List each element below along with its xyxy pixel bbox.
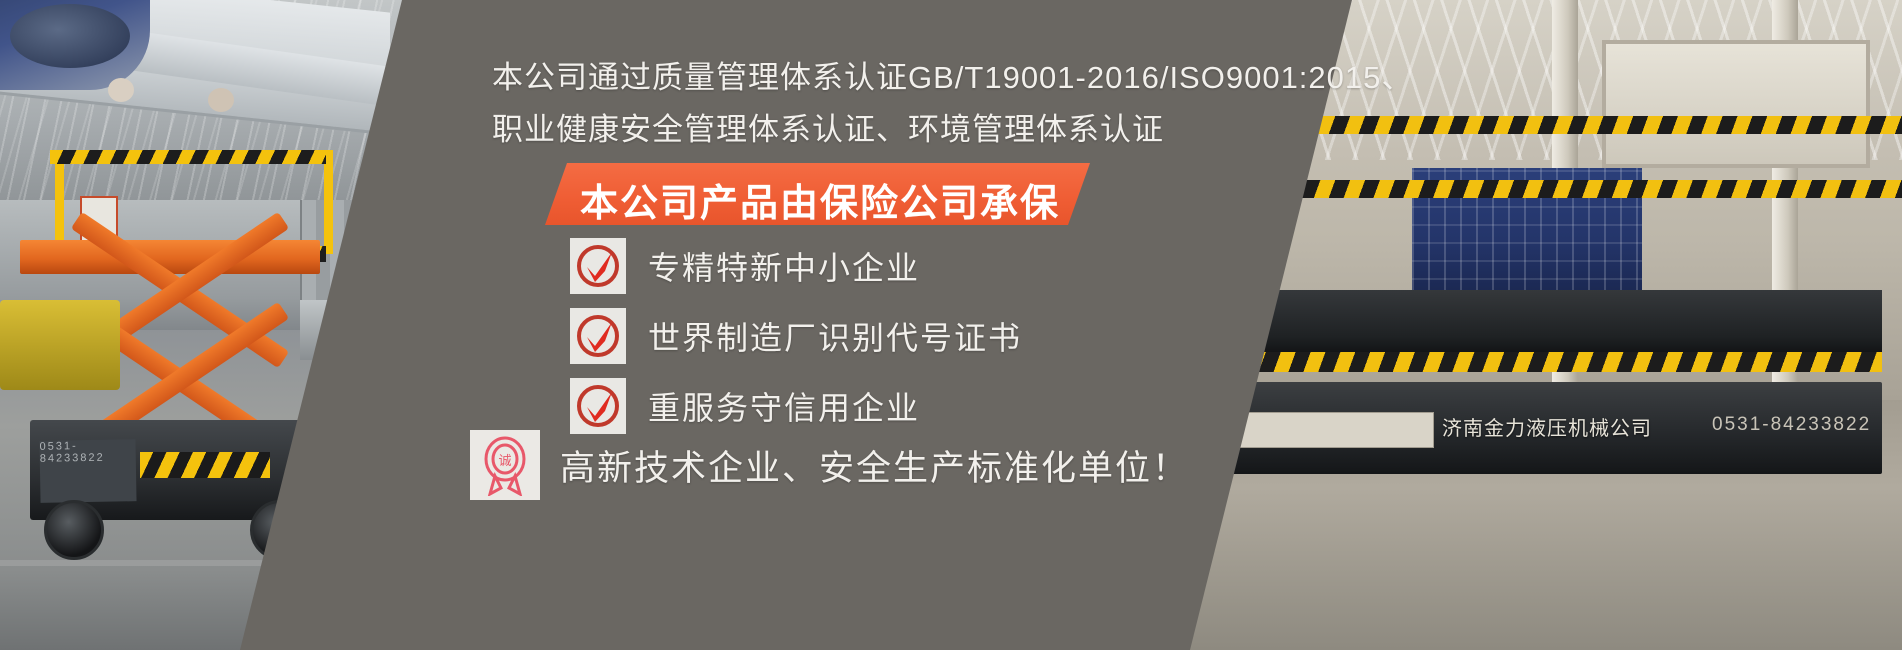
promo-banner: 0531-84233822 济南金力液压机械公司 0531-84233822 本… bbox=[0, 0, 1902, 650]
medal-list-item: 诚 高新技术企业、安全生产标准化单位！ bbox=[470, 430, 1189, 500]
banner-content: 本公司通过质量管理体系认证GB/T19001-2016/ISO9001:2015… bbox=[0, 0, 1902, 650]
svg-text:诚: 诚 bbox=[498, 453, 511, 468]
headline-line-2: 职业健康安全管理体系认证、环境管理体系认证 bbox=[492, 104, 1164, 149]
list-item: 重服务守信用企业 bbox=[570, 378, 920, 434]
check-circle-icon bbox=[570, 378, 626, 434]
medal-ribbon-icon: 诚 bbox=[470, 430, 540, 500]
list-item: 专精特新中小企业 bbox=[570, 238, 920, 294]
list-item: 世界制造厂识别代号证书 bbox=[570, 308, 1022, 364]
medal-list-item-label: 高新技术企业、安全生产标准化单位！ bbox=[560, 440, 1189, 491]
insurance-ribbon-label: 本公司产品由保险公司承保 bbox=[575, 172, 1065, 227]
check-circle-icon bbox=[570, 308, 626, 364]
list-item-label: 重服务守信用企业 bbox=[648, 383, 920, 429]
list-item-label: 世界制造厂识别代号证书 bbox=[648, 313, 1022, 359]
headline-line-1: 本公司通过质量管理体系认证GB/T19001-2016/ISO9001:2015… bbox=[492, 52, 1413, 97]
list-item-label: 专精特新中小企业 bbox=[648, 243, 920, 289]
check-circle-icon bbox=[570, 238, 626, 294]
